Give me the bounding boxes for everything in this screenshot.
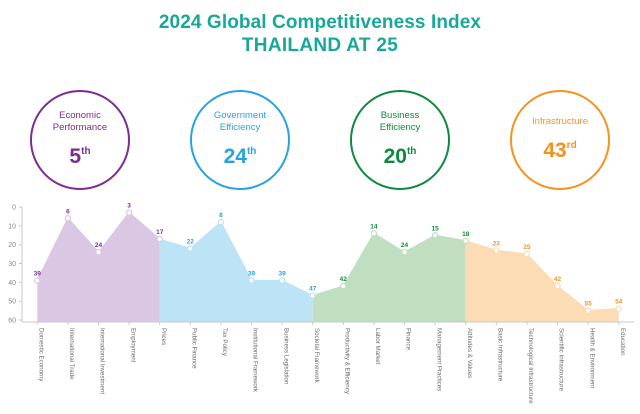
data-label-10: 42 [340, 276, 348, 283]
data-label-5: 22 [187, 238, 195, 245]
data-point-12[interactable] [402, 250, 407, 255]
chart-svg: 0102030405060 39624317228393947421424151… [0, 198, 640, 414]
y-axis-tick-10: 10 [8, 223, 16, 230]
data-label-2: 24 [95, 242, 103, 249]
data-label-17: 42 [554, 276, 562, 283]
data-label-18: 55 [584, 301, 592, 308]
pillar-label-line1: Government [214, 110, 266, 122]
x-axis-label-16: Technological Infrastructure [527, 328, 534, 404]
x-axis-label-2: International Investment [99, 328, 106, 394]
pillar-rank-number: 20 [384, 146, 407, 167]
data-label-7: 39 [248, 270, 256, 277]
x-axis-label-7: Institutional Framework [252, 328, 259, 393]
data-point-18[interactable] [586, 308, 591, 313]
y-axis-tick-50: 50 [8, 299, 16, 306]
data-label-11: 14 [370, 223, 378, 230]
x-axis-label-8: Business Legislation [282, 328, 289, 385]
pillar-label-line2: Efficiency [214, 122, 266, 134]
pillar-rank-number: 24 [224, 146, 247, 167]
pillar-label-business-efficiency: Business Efficiency [374, 110, 426, 134]
pillar-label-infrastructure: Infrastructure [526, 116, 594, 128]
pillar-rank-suffix: th [407, 146, 416, 158]
y-axis-tick-0: 0 [12, 205, 16, 212]
pillar-label-line1: Infrastructure [532, 116, 588, 128]
data-label-8: 39 [278, 270, 286, 277]
x-axis-label-3: Employment [129, 328, 136, 363]
x-axis-label-18: Health & Environment [588, 328, 595, 388]
data-label-0: 39 [34, 270, 42, 277]
y-axis: 0102030405060 [8, 205, 22, 325]
pillar-rank-business-efficiency: 20th [384, 146, 417, 167]
pillar-label-line2: Performance [53, 122, 107, 134]
area-government-efficiency [160, 222, 313, 322]
x-axis-label-0: Domestic Economy [38, 328, 45, 382]
competitiveness-area-chart: 0102030405060 39624317228393947421424151… [0, 198, 640, 414]
data-label-6: 8 [219, 212, 223, 219]
data-label-9: 47 [309, 286, 317, 293]
pillar-circle-economic-performance[interactable]: Economic Performance 5th [30, 90, 130, 190]
data-label-19: 54 [615, 299, 623, 306]
data-point-19[interactable] [616, 306, 621, 311]
pillar-label-economic-performance: Economic Performance [47, 110, 113, 134]
pillar-rank-number: 43 [543, 140, 566, 161]
data-label-15: 23 [493, 240, 501, 247]
data-point-13[interactable] [433, 233, 438, 238]
x-axis-label-13: Management Practices [435, 328, 442, 391]
y-axis-tick-60: 60 [8, 318, 16, 325]
x-axis-label-5: Public Finance [191, 328, 198, 369]
pillar-circle-infrastructure[interactable]: Infrastructure 43rd [510, 90, 610, 190]
x-axis-label-1: International Trade [68, 328, 75, 380]
data-point-11[interactable] [371, 231, 376, 236]
pillar-rank-infrastructure: 43rd [543, 140, 576, 161]
area-business-efficiency [313, 233, 466, 322]
x-axis-label-17: Scientific Infrastructure [558, 328, 565, 391]
pillar-label-line1: Business [380, 110, 420, 122]
data-label-12: 24 [401, 242, 409, 249]
data-label-1: 6 [66, 208, 70, 215]
chart-areas [37, 213, 618, 322]
x-axis-label-6: Tax Policy [221, 328, 228, 357]
data-point-2[interactable] [96, 250, 101, 255]
pillar-label-line1: Economic [53, 110, 107, 122]
x-axis-label-9: Societal Framework [313, 328, 320, 384]
x-axis-label-12: Finance [405, 328, 412, 351]
data-point-1[interactable] [65, 216, 70, 221]
data-label-16: 25 [523, 244, 531, 251]
data-point-6[interactable] [218, 219, 223, 224]
pillar-circle-government-efficiency[interactable]: Government Efficiency 24th [190, 90, 290, 190]
page-title-primary: 2024 Global Competitiveness Index [0, 11, 640, 34]
area-economic-performance [37, 213, 159, 322]
pillar-circles-row: Economic Performance 5th Government Effi… [0, 86, 640, 194]
pillar-rank-suffix: th [247, 146, 256, 158]
data-point-9[interactable] [310, 293, 315, 298]
x-axis-label-15: Basic Infrastructure [497, 328, 504, 382]
pillar-rank-suffix: th [81, 146, 90, 158]
y-axis-tick-20: 20 [8, 242, 16, 249]
pillar-rank-suffix: rd [567, 140, 577, 152]
x-axis-label-14: Attitudes & Values [466, 328, 473, 378]
page-title-secondary: THAILAND AT 25 [0, 34, 640, 57]
data-label-13: 15 [431, 225, 439, 232]
data-point-5[interactable] [188, 246, 193, 251]
x-axis-label-10: Productivity & Efficiency [344, 328, 351, 395]
y-axis-tick-30: 30 [8, 261, 16, 268]
data-point-10[interactable] [341, 284, 346, 289]
data-point-14[interactable] [463, 238, 468, 243]
x-axis-label-4: Prices [160, 328, 167, 345]
data-point-17[interactable] [555, 284, 560, 289]
data-point-3[interactable] [127, 210, 132, 215]
page-header: 2024 Global Competitiveness Index THAILA… [0, 0, 640, 57]
data-point-8[interactable] [280, 278, 285, 283]
y-axis-tick-40: 40 [8, 280, 16, 287]
x-axis-label-19: Education [619, 328, 626, 356]
data-point-4[interactable] [157, 236, 162, 241]
pillar-label-line2: Efficiency [380, 122, 420, 134]
pillar-rank-number: 5 [69, 146, 81, 167]
pillar-rank-economic-performance: 5th [69, 146, 90, 167]
data-label-4: 17 [156, 229, 164, 236]
data-point-7[interactable] [249, 278, 254, 283]
data-label-14: 18 [462, 231, 470, 238]
x-axis: Domestic EconomyInternational TradeInter… [22, 322, 634, 404]
x-axis-label-11: Labor Market [374, 328, 381, 365]
data-point-15[interactable] [494, 248, 499, 253]
data-label-3: 3 [127, 203, 131, 210]
pillar-circle-business-efficiency[interactable]: Business Efficiency 20th [350, 90, 450, 190]
pillar-rank-government-efficiency: 24th [224, 146, 257, 167]
pillar-label-government-efficiency: Government Efficiency [208, 110, 272, 134]
data-point-0[interactable] [35, 278, 40, 283]
data-point-16[interactable] [524, 251, 529, 256]
